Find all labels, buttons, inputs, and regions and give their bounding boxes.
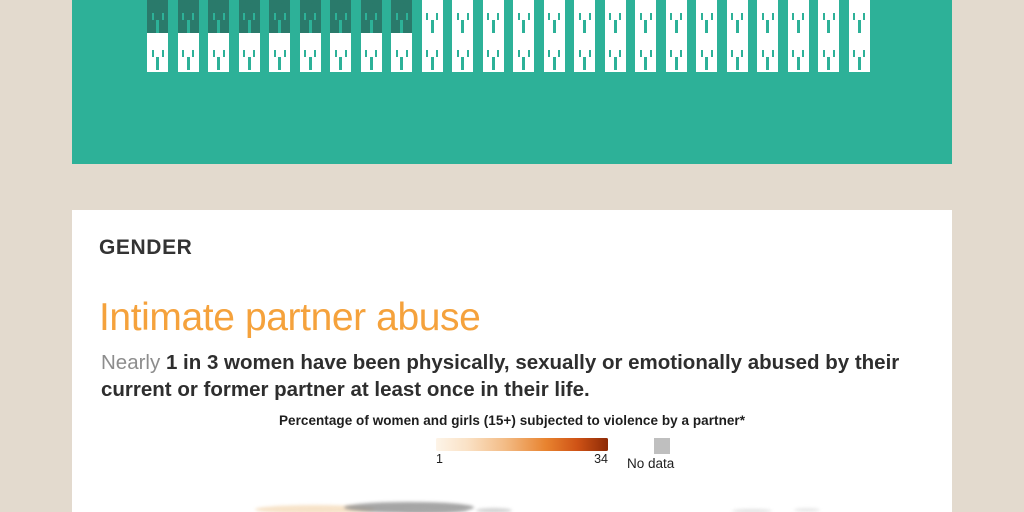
pictogram-person-icon — [452, 33, 473, 72]
gradient-max-label: 34 — [594, 452, 608, 466]
pictogram-person-icon — [208, 0, 229, 35]
pictogram-person-icon — [269, 0, 290, 35]
pictogram-person-icon — [696, 0, 717, 35]
pictogram-person-icon — [330, 0, 351, 35]
pictogram-person-icon — [696, 33, 717, 72]
pictogram-person-icon — [849, 33, 870, 72]
pictogram-person-icon — [727, 33, 748, 72]
section-kicker: GENDER — [99, 236, 192, 260]
pictogram-person-icon — [513, 33, 534, 72]
pictogram-person-icon — [513, 0, 534, 35]
pictogram-person-icon — [483, 0, 504, 35]
map-region-shape — [476, 508, 512, 512]
content-card: GENDER Intimate partner abuse Nearly 1 i… — [72, 210, 952, 512]
pictogram-person-icon — [635, 0, 656, 35]
legend-caption: Percentage of women and girls (15+) subj… — [72, 413, 952, 428]
pictogram-person-icon — [605, 33, 626, 72]
gradient-min-label: 1 — [436, 452, 443, 466]
legend-row: 1 34 No data — [72, 438, 952, 478]
map-preview-edge — [72, 496, 952, 512]
pictogram-person-icon — [178, 0, 199, 35]
pictogram-person-icon — [544, 33, 565, 72]
pictogram-person-icon — [330, 33, 351, 72]
pictogram-person-icon — [422, 33, 443, 72]
lede-paragraph: Nearly 1 in 3 women have been physically… — [101, 349, 947, 404]
lede-lead-text: Nearly — [101, 351, 166, 374]
pictogram-person-icon — [818, 33, 839, 72]
pictogram-person-icon — [391, 0, 412, 35]
pictogram-person-icon — [544, 0, 565, 35]
pictogram-person-icon — [757, 0, 778, 35]
pictogram-person-icon — [757, 33, 778, 72]
pictogram-person-icon — [422, 0, 443, 35]
pictogram-person-icon — [300, 33, 321, 72]
pictogram-person-icon — [361, 0, 382, 35]
pictogram-person-icon — [788, 0, 809, 35]
pictogram-person-icon — [361, 33, 382, 72]
pictogram-person-icon — [635, 33, 656, 72]
pictogram-person-icon — [788, 33, 809, 72]
gradient-legend: 1 34 — [436, 438, 608, 451]
pictogram-person-icon — [178, 33, 199, 72]
map-region-shape — [794, 508, 820, 512]
nodata-label: No data — [627, 456, 674, 471]
pictogram-person-icon — [239, 0, 260, 35]
nodata-swatch-icon — [654, 438, 670, 454]
pictogram-person-icon — [300, 0, 321, 35]
pictogram-person-icon — [574, 0, 595, 35]
pictogram-person-icon — [605, 0, 626, 35]
lede-bold-text: 1 in 3 women have been physically, sexua… — [101, 351, 899, 401]
page-title: Intimate partner abuse — [99, 296, 480, 340]
pictogram-person-icon — [666, 33, 687, 72]
pictogram-person-icon — [147, 33, 168, 72]
pictogram-person-icon — [269, 33, 290, 72]
gradient-color-bar — [436, 438, 608, 451]
pictogram-person-icon — [483, 33, 504, 72]
pictogram-person-icon — [666, 0, 687, 35]
pictogram-person-icon — [727, 0, 748, 35]
pictogram-person-icon — [452, 0, 473, 35]
map-region-shape — [402, 506, 468, 512]
pictogram-person-icon — [574, 33, 595, 72]
pictogram-person-icon — [849, 0, 870, 35]
pictogram-person-icon — [208, 33, 229, 72]
pictogram-person-icon — [239, 33, 260, 72]
pictogram-person-icon — [147, 0, 168, 35]
pictogram-panel — [72, 0, 952, 164]
pictogram-person-icon — [818, 0, 839, 35]
pictogram-person-icon — [391, 33, 412, 72]
